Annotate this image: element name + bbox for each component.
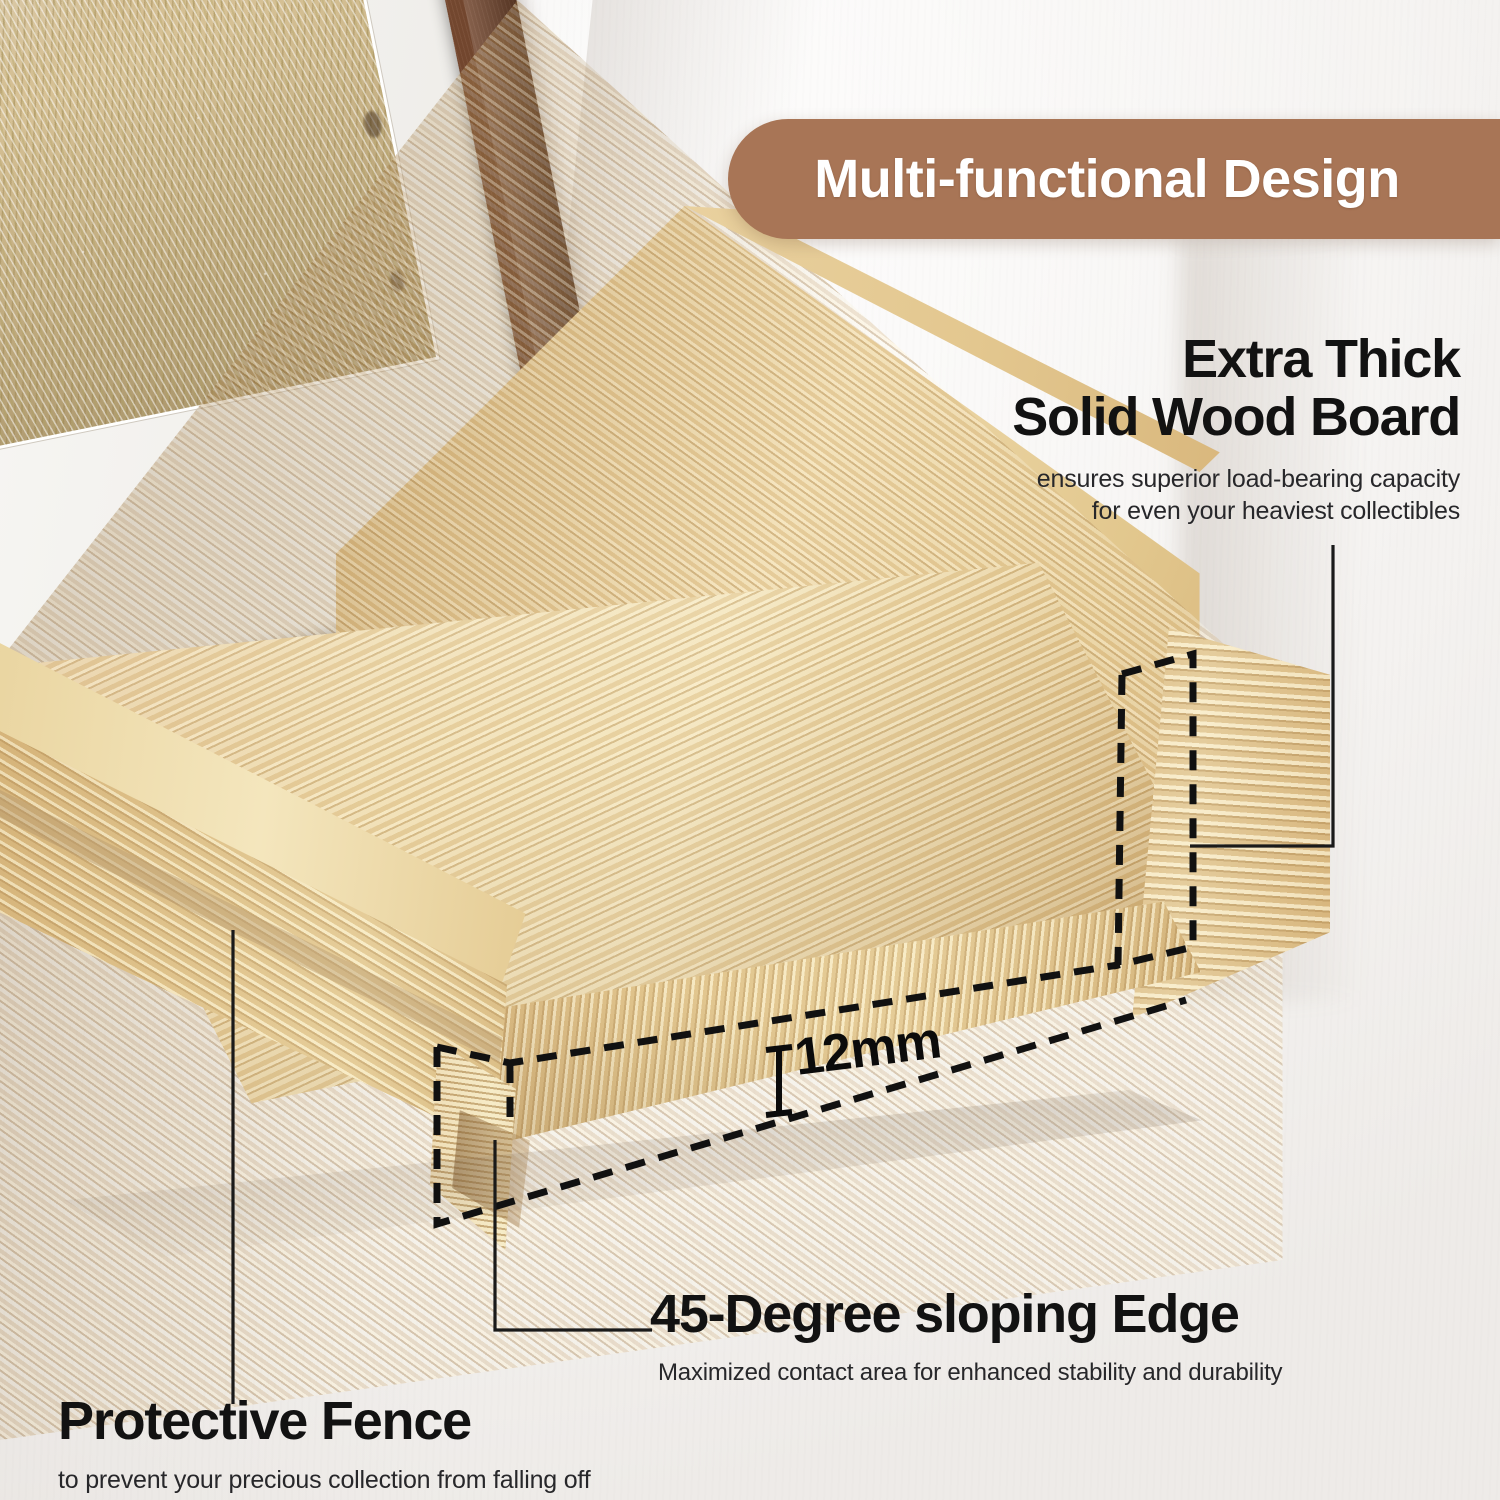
leader-line-extra-thick bbox=[1190, 545, 1333, 846]
callout-sloping-edge: 45-Degree sloping Edge Maximized contact… bbox=[650, 1285, 1410, 1389]
callout-protective-fence-title: Protective Fence bbox=[58, 1392, 778, 1450]
dimension-marker-12mm bbox=[766, 1047, 792, 1115]
callout-extra-thick: Extra Thick Solid Wood Board ensures sup… bbox=[840, 330, 1460, 528]
callout-extra-thick-desc-line2: for even your heaviest collectibles bbox=[1092, 497, 1460, 525]
banner-label: Multi-functional Design bbox=[814, 148, 1413, 210]
callout-protective-fence: Protective Fence to prevent your preciou… bbox=[58, 1392, 778, 1497]
product-feature-image: Multi-functional Design Extra Thick Soli… bbox=[0, 0, 1500, 1500]
callout-extra-thick-title-line1: Extra Thick bbox=[1182, 329, 1460, 389]
banner-multi-functional-design: Multi-functional Design bbox=[728, 119, 1500, 239]
callout-sloping-edge-description: Maximized contact area for enhanced stab… bbox=[650, 1357, 1410, 1388]
callout-protective-fence-description: to prevent your precious collection from… bbox=[58, 1464, 778, 1497]
dashed-outline-back-panel-end bbox=[1118, 654, 1193, 965]
dashed-outline-base-board-edge bbox=[437, 965, 1186, 1224]
callout-extra-thick-title: Extra Thick Solid Wood Board bbox=[840, 330, 1460, 447]
callout-extra-thick-title-line2: Solid Wood Board bbox=[1012, 387, 1460, 447]
callout-extra-thick-description: ensures superior load-bearing capacity f… bbox=[840, 463, 1460, 528]
callout-sloping-edge-title: 45-Degree sloping Edge bbox=[650, 1285, 1410, 1343]
callout-extra-thick-desc-line1: ensures superior load-bearing capacity bbox=[1037, 465, 1460, 493]
